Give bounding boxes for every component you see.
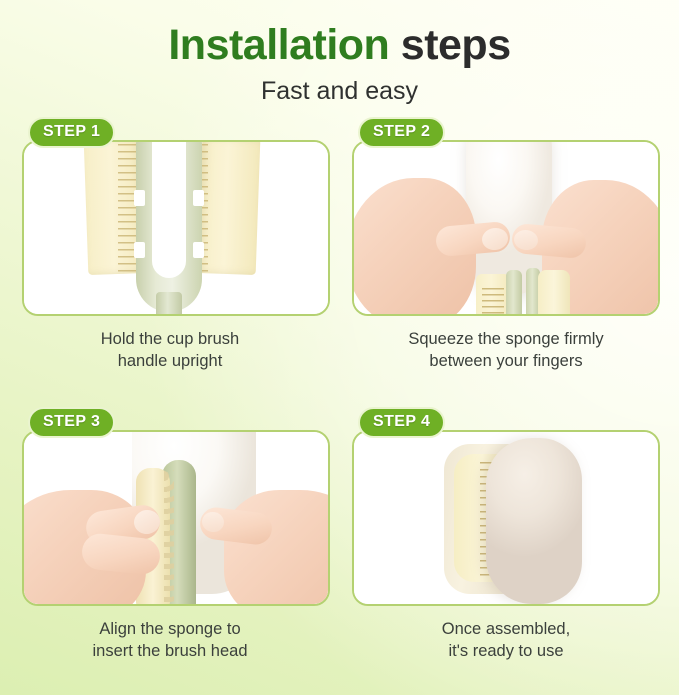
step-card-1: STEP 1 Hold the cup brush handle upright [0,110,340,400]
step-illustration-2 [354,142,658,314]
step-badge-1: STEP 1 [28,117,115,148]
step-badge-4: STEP 4 [358,407,445,438]
u-handle-slot [152,142,186,278]
step-card-4: STEP 4 Once assembled, it's ready to use [340,400,679,690]
handle-notch-left-lower [134,242,145,258]
sponge-scalloped-edge [164,470,174,604]
step-card-3: STEP 3 Align the sponge to insert the br… [0,400,340,690]
step-card-2: STEP 2 Squeeze the sponge firm [340,110,679,400]
handle-notch-right-lower [193,242,204,258]
step-image-frame-2 [352,140,660,316]
right-hand [224,490,328,604]
handle-notch-right-upper [193,190,204,206]
step-illustration-1 [24,142,328,314]
step-badge-2: STEP 2 [358,117,445,148]
sponge-piece [538,270,570,314]
step-image-frame-3 [22,430,330,606]
handle-stem [156,292,182,314]
installation-steps-page: Installation steps Fast and easy STEP 1 [0,0,679,695]
step-illustration-4 [354,432,658,604]
step-image-frame-1 [22,140,330,316]
step-caption-2: Squeeze the sponge firmly between your f… [346,328,666,372]
sponge-front-half [486,438,582,604]
step-illustration-3 [24,432,328,604]
step-caption-4: Once assembled, it's ready to use [346,618,666,662]
page-subtitle: Fast and easy [0,70,679,106]
handle-notch-left-upper [134,190,145,206]
page-title-green-part: Installation [168,21,389,69]
brush-head-bristles [482,288,504,314]
page-title: Installation steps [0,0,679,70]
step-caption-1: Hold the cup brush handle upright [10,328,330,372]
step-image-frame-4 [352,430,660,606]
brush-cap-piece [506,270,522,314]
step-badge-3: STEP 3 [28,407,115,438]
steps-grid: STEP 1 Hold the cup brush handle upright [0,110,679,690]
page-title-dark-part: steps [401,21,511,69]
step-caption-3: Align the sponge to insert the brush hea… [10,618,330,662]
page-header: Installation steps Fast and easy [0,0,679,106]
